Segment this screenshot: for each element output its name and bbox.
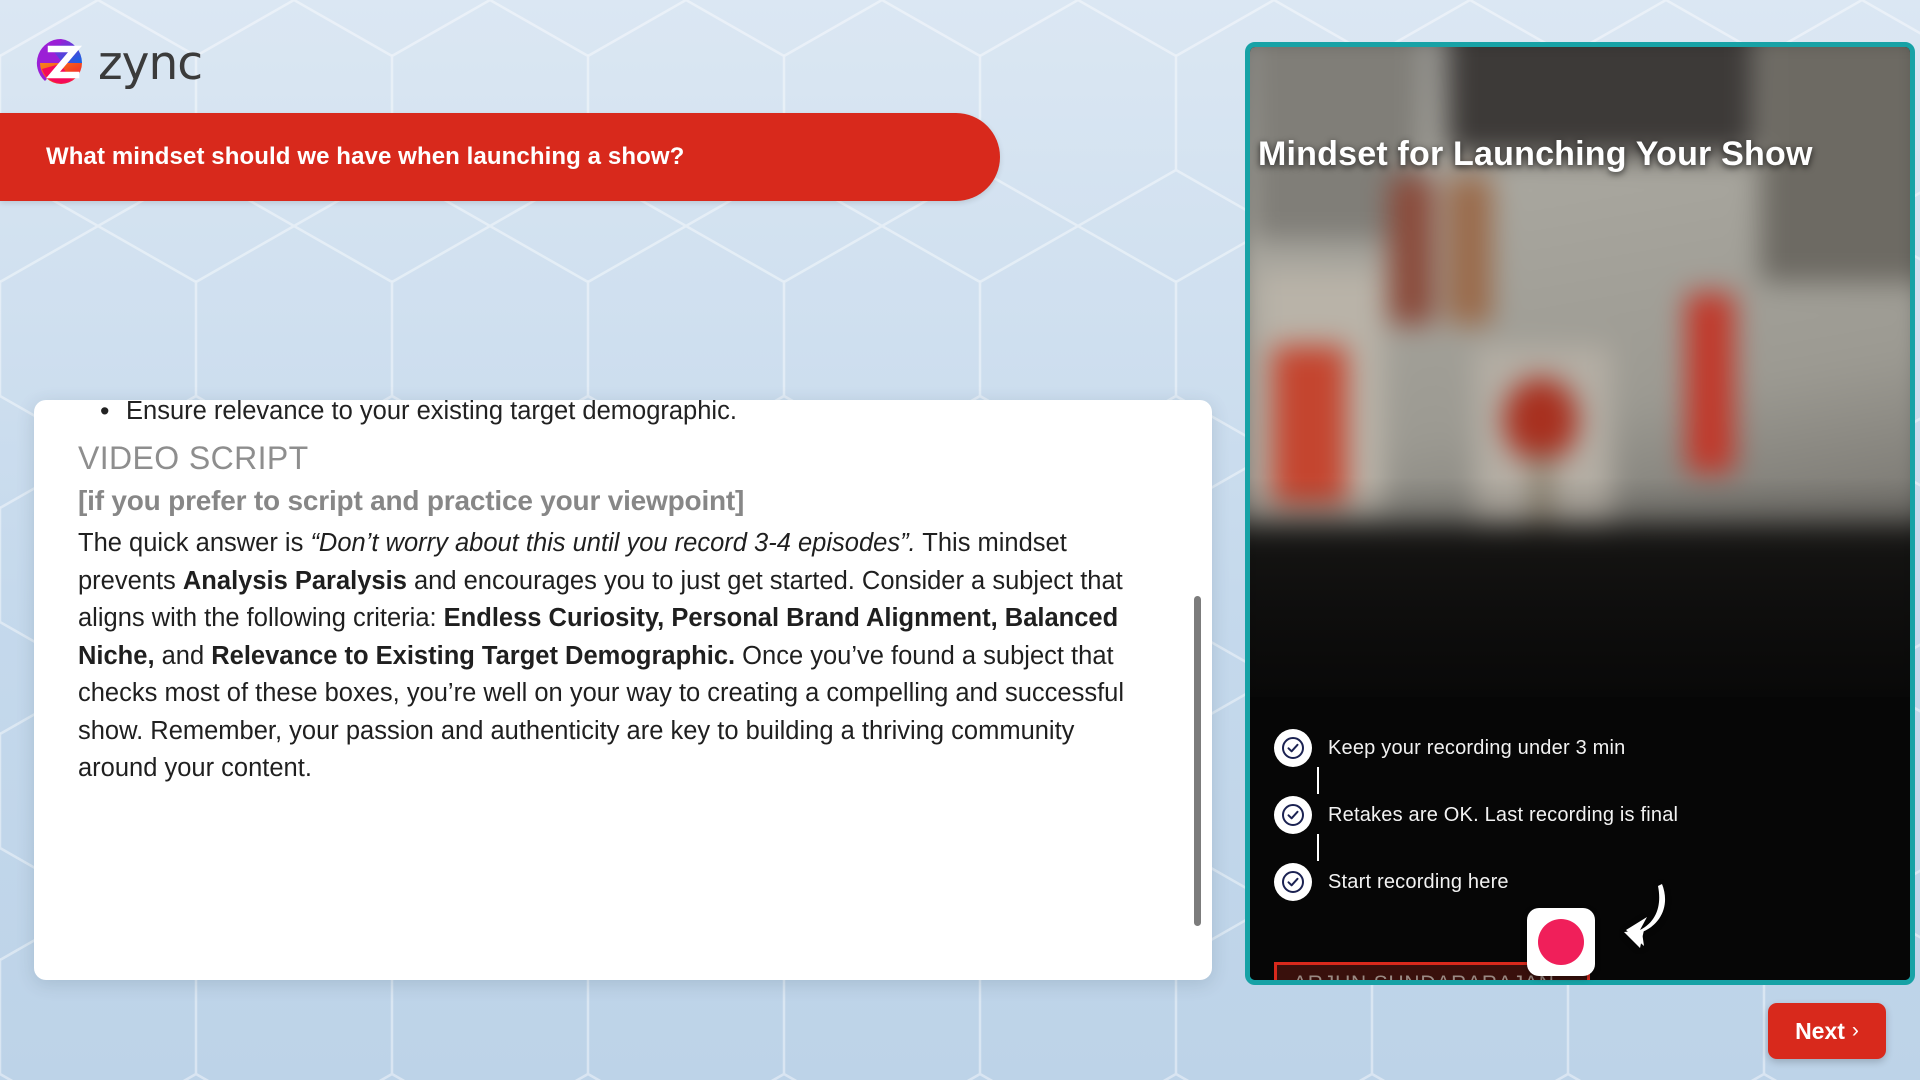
chevron-right-icon: ›: [1852, 1019, 1859, 1043]
video-title: Mindset for Launching Your Show: [1258, 135, 1915, 174]
record-dot-icon: [1538, 919, 1584, 965]
brand-name: zync: [98, 40, 202, 87]
script-subheading: [if you prefer to script and practice yo…: [78, 485, 1148, 517]
script-body: The quick answer is “Don’t worry about t…: [78, 525, 1148, 787]
body-quote: “Don’t worry about this until you record…: [310, 529, 915, 557]
question-banner: What mindset should we have when launchi…: [0, 113, 1000, 201]
checklist-connector: [1317, 767, 1319, 794]
body-bold-1: Analysis Paralysis: [183, 567, 407, 595]
body-lead: The quick answer is: [78, 529, 310, 557]
check-circle-icon: [1274, 863, 1312, 901]
curved-arrow-icon: [1600, 880, 1670, 960]
body-bold-3: Relevance to Existing Target Demographic…: [211, 642, 735, 670]
checklist-connector: [1317, 834, 1319, 861]
check-circle-icon: [1274, 729, 1312, 767]
question-text: What mindset should we have when launchi…: [46, 143, 684, 171]
next-label: Next: [1795, 1018, 1845, 1045]
checklist-item-duration: Keep your recording under 3 min: [1274, 719, 1678, 777]
script-content: Find a balance between niche appeal and …: [34, 400, 1212, 788]
presenter-name: ARJUN SUNDARARAJAN: [1293, 972, 1555, 985]
video-preview-panel[interactable]: Mindset for Launching Your Show Keep you…: [1245, 42, 1915, 985]
checklist-label: Retakes are OK. Last recording is final: [1328, 804, 1678, 827]
script-card: Find a balance between niche appeal and …: [34, 400, 1212, 980]
brand-logo: zync: [36, 38, 202, 88]
body-mid-3: and: [155, 642, 212, 670]
checklist-label: Keep your recording under 3 min: [1328, 737, 1625, 760]
zync-logo-icon: [36, 38, 86, 88]
next-button[interactable]: Next ›: [1768, 1003, 1886, 1059]
criteria-list: Find a balance between niche appeal and …: [78, 400, 1148, 430]
scrollbar-thumb[interactable]: [1194, 596, 1201, 926]
check-circle-icon: [1274, 796, 1312, 834]
checklist-label: Start recording here: [1328, 871, 1509, 894]
list-item: Ensure relevance to your existing target…: [78, 400, 1148, 430]
record-button[interactable]: [1527, 908, 1595, 976]
script-heading: VIDEO SCRIPT: [78, 440, 1148, 477]
checklist-item-retakes: Retakes are OK. Last recording is final: [1274, 786, 1678, 844]
